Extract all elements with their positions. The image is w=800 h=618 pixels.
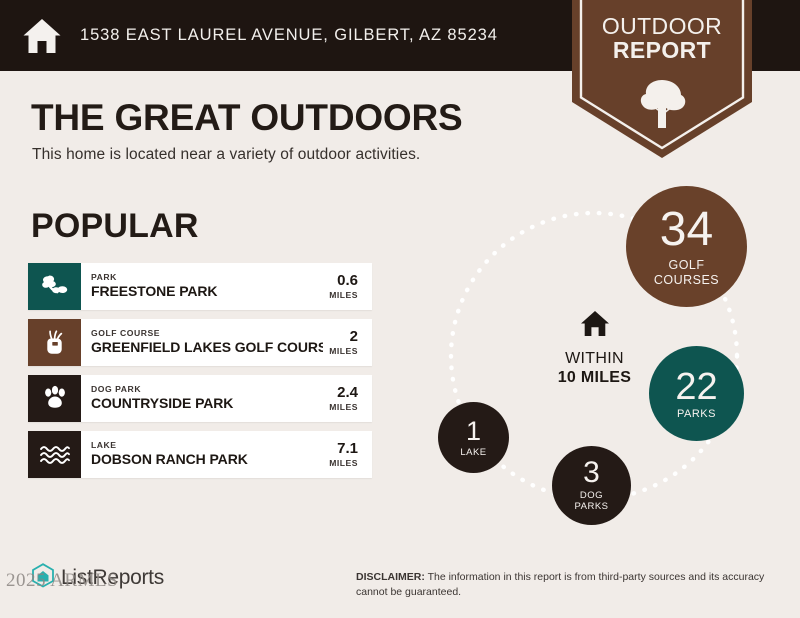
property-address: 1538 EAST LAUREL AVENUE, GILBERT, AZ 852… <box>80 26 498 45</box>
distance-value: 2 <box>350 329 358 346</box>
disclaimer-label: DISCLAIMER: <box>356 571 425 583</box>
bubble-label: LAKE <box>460 448 486 458</box>
bubble-label-line2: PARKS <box>574 501 608 512</box>
list-item-distance: 2.4 MILES <box>323 375 372 422</box>
header: 1538 EAST LAUREL AVENUE, GILBERT, AZ 852… <box>22 0 498 71</box>
park-trees-icon <box>28 263 81 310</box>
bubble-label-line1: GOLF <box>668 258 704 272</box>
bubble-lake[interactable]: 1 LAKE <box>438 402 509 473</box>
bubble-label: DOG PARKS <box>574 491 608 513</box>
page-subtitle: This home is located near a variety of o… <box>32 146 420 164</box>
within-10-miles-chart: 34 GOLF COURSES 22 PARKS 3 DOG PARKS 1 L… <box>404 176 784 536</box>
bubble-value: 34 <box>660 206 713 254</box>
water-waves-icon <box>28 431 81 478</box>
distance-unit: MILES <box>329 458 358 468</box>
bubble-dog-parks[interactable]: 3 DOG PARKS <box>552 446 631 525</box>
popular-heading: POPULAR <box>31 207 199 246</box>
list-item-name: GREENFIELD LAKES GOLF COURSE <box>91 339 323 357</box>
golf-bag-icon <box>28 319 81 366</box>
list-item-category: LAKE <box>91 441 323 451</box>
home-icon <box>522 310 667 342</box>
bubble-value: 3 <box>583 458 600 488</box>
distance-value: 7.1 <box>337 441 358 458</box>
list-item-category: GOLF COURSE <box>91 329 323 339</box>
page-title: THE GREAT OUTDOORS <box>31 97 463 139</box>
chart-center-label: WITHIN 10 MILES <box>522 310 667 388</box>
list-item-name: FREESTONE PARK <box>91 283 323 301</box>
distance-unit: MILES <box>329 346 358 356</box>
list-item-category: DOG PARK <box>91 385 323 395</box>
distance-unit: MILES <box>329 402 358 412</box>
distance-unit: MILES <box>329 290 358 300</box>
disclaimer: DISCLAIMER: The information in this repo… <box>356 570 776 600</box>
bubble-golf-courses[interactable]: 34 GOLF COURSES <box>626 186 747 307</box>
list-item[interactable]: DOG PARK COUNTRYSIDE PARK 2.4 MILES <box>28 375 372 422</box>
bubble-label-line2: COURSES <box>654 273 719 287</box>
center-line2: 10 MILES <box>522 368 667 387</box>
home-icon <box>22 17 62 55</box>
list-item[interactable]: GOLF COURSE GREENFIELD LAKES GOLF COURSE… <box>28 319 372 366</box>
list-item-category: PARK <box>91 273 323 283</box>
list-item[interactable]: PARK FREESTONE PARK 0.6 MILES <box>28 263 372 310</box>
list-item-distance: 2 MILES <box>323 319 372 366</box>
distance-value: 0.6 <box>337 273 358 290</box>
list-item-text: LAKE DOBSON RANCH PARK <box>81 431 323 478</box>
list-item-text: PARK FREESTONE PARK <box>81 263 323 310</box>
bubble-label: GOLF COURSES <box>654 258 719 287</box>
list-item[interactable]: LAKE DOBSON RANCH PARK 7.1 MILES <box>28 431 372 478</box>
distance-value: 2.4 <box>337 385 358 402</box>
popular-list: PARK FREESTONE PARK 0.6 MILES GOLF COURS… <box>28 263 372 487</box>
list-item-text: DOG PARK COUNTRYSIDE PARK <box>81 375 323 422</box>
bubble-label: PARKS <box>677 409 716 420</box>
paw-print-icon <box>28 375 81 422</box>
list-item-name: DOBSON RANCH PARK <box>91 451 323 469</box>
bubble-value: 22 <box>675 368 717 406</box>
mls-watermark: 2025 ARMLS <box>6 570 118 592</box>
center-line1: WITHIN <box>522 350 667 368</box>
outdoor-report-infographic: 1538 EAST LAUREL AVENUE, GILBERT, AZ 852… <box>0 0 800 618</box>
bubble-value: 1 <box>466 418 481 445</box>
outdoor-report-badge: OUTDOOR REPORT <box>572 0 752 160</box>
list-item-text: GOLF COURSE GREENFIELD LAKES GOLF COURSE <box>81 319 323 366</box>
list-item-distance: 7.1 MILES <box>323 431 372 478</box>
list-item-name: COUNTRYSIDE PARK <box>91 395 323 413</box>
list-item-distance: 0.6 MILES <box>323 263 372 310</box>
bubble-label-line1: DOG <box>580 490 603 501</box>
